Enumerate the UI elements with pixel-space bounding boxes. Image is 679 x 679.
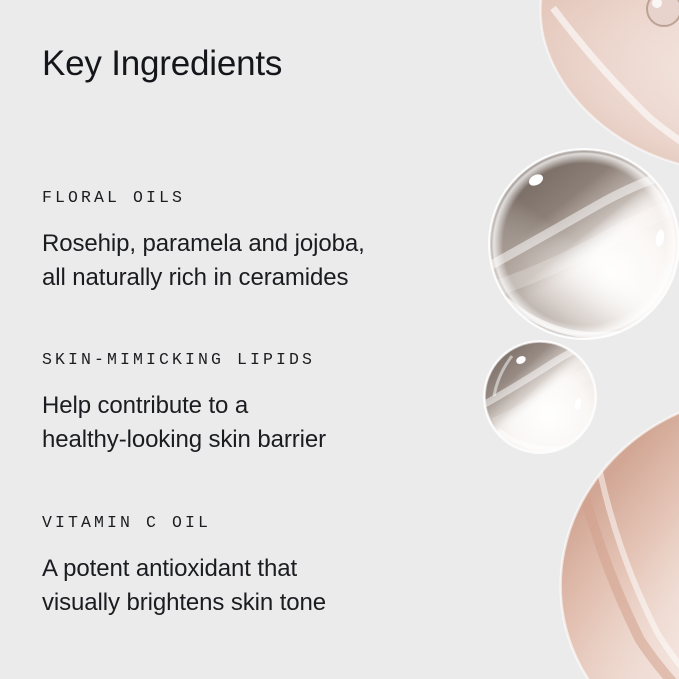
ingredient-description-skin-mimicking-lipids: Help contribute to a healthy-looking ski… bbox=[42, 389, 472, 457]
ingredient-label-floral-oils: FLORAL OILS bbox=[42, 190, 472, 207]
ingredient-label-vitamin-c-oil: VITAMIN C OIL bbox=[42, 515, 472, 532]
ingredient-block-floral-oils: FLORAL OILS Rosehip, paramela and jojoba… bbox=[42, 190, 472, 295]
description-line: all naturally rich in ceramides bbox=[42, 261, 472, 295]
ingredient-description-vitamin-c-oil: A potent antioxidant that visually brigh… bbox=[42, 552, 472, 620]
description-line: A potent antioxidant that bbox=[42, 552, 472, 586]
ingredient-block-vitamin-c-oil: VITAMIN C OIL A potent antioxidant that … bbox=[42, 515, 472, 620]
ingredient-description-floral-oils: Rosehip, paramela and jojoba, all natura… bbox=[42, 227, 472, 295]
description-line: Rosehip, paramela and jojoba, bbox=[42, 227, 472, 261]
ingredient-block-skin-mimicking-lipids: SKIN-MIMICKING LIPIDS Help contribute to… bbox=[42, 352, 472, 457]
key-ingredients-card: Key Ingredients FLORAL OILS Rosehip, par… bbox=[0, 0, 679, 679]
page-title: Key Ingredients bbox=[42, 44, 282, 84]
description-line: visually brightens skin tone bbox=[42, 586, 472, 620]
description-line: Help contribute to a bbox=[42, 389, 472, 423]
description-line: healthy-looking skin barrier bbox=[42, 423, 472, 457]
ingredient-label-skin-mimicking-lipids: SKIN-MIMICKING LIPIDS bbox=[42, 352, 472, 369]
content-column: Key Ingredients FLORAL OILS Rosehip, par… bbox=[0, 0, 679, 679]
